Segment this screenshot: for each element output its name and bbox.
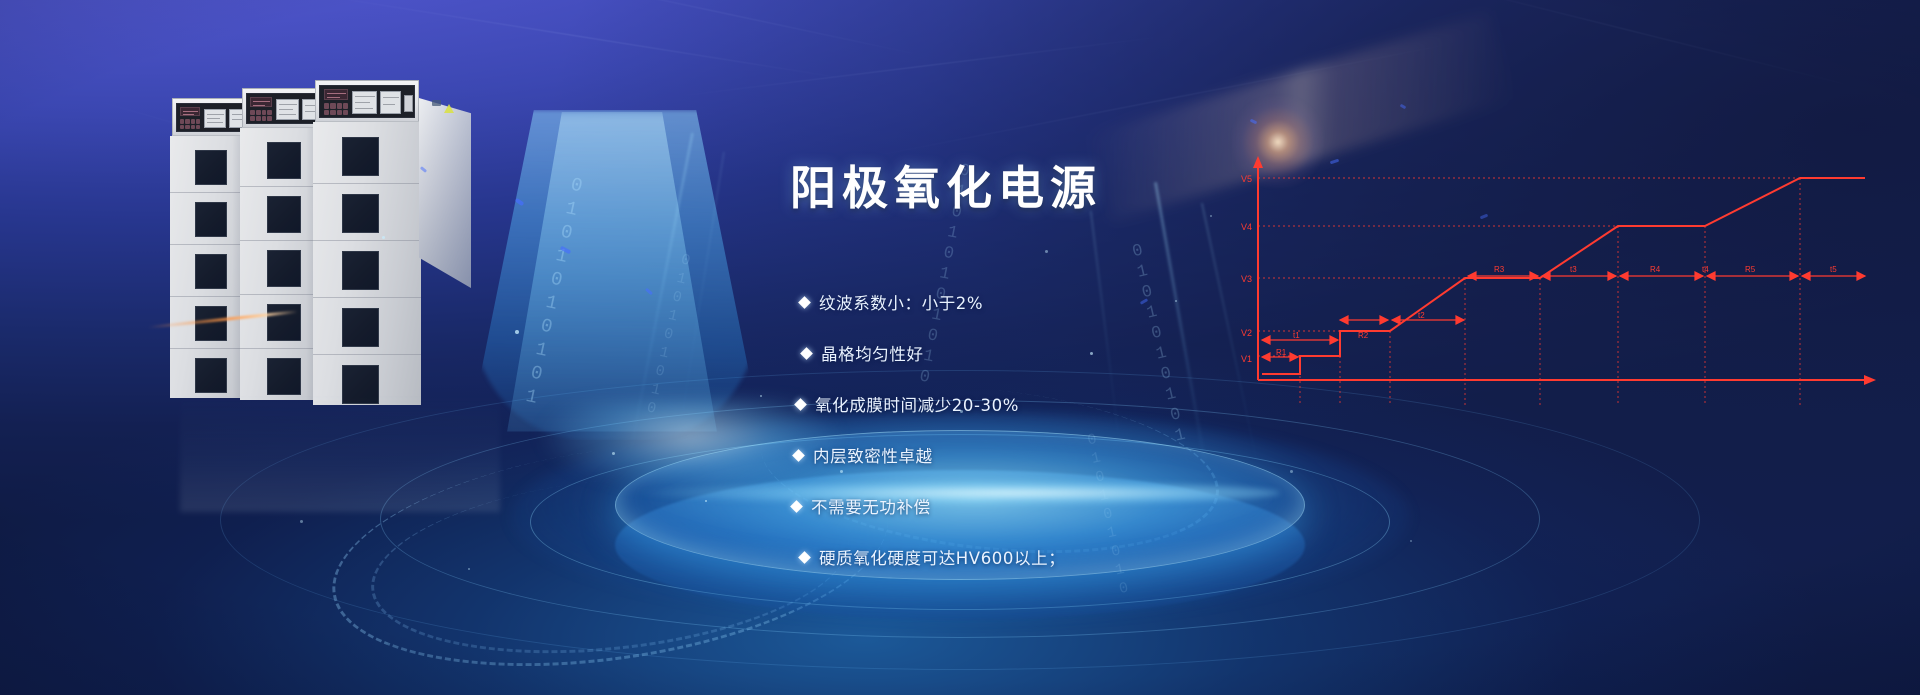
voltage-profile-chart: V1 V2 V3 V4 V5 R1 R2 R3 R4 R5 t1 t2 t3 t…: [1240, 150, 1880, 410]
cabinet-vent: [342, 194, 379, 233]
cabinet-vent: [342, 137, 379, 176]
cabinet-reflection: [180, 392, 500, 512]
particle: [515, 330, 519, 334]
list-item: 不需要无功补偿: [792, 494, 1280, 518]
page-title: 阳极氧化电源: [790, 152, 1102, 218]
particle: [300, 520, 303, 523]
lcd-display-icon: [180, 107, 200, 116]
keypad-icon: [180, 119, 200, 129]
list-item-label: 硬质氧化硬度可达HV600以上；: [819, 545, 1065, 569]
cabinet-vent: [267, 358, 301, 395]
breaker-switch-icon[interactable]: [404, 95, 413, 112]
particle: [1045, 250, 1048, 253]
particle: [1410, 540, 1412, 542]
warning-badge-icon: [444, 104, 454, 113]
cabinet-vent: [195, 358, 227, 393]
cabinet-vent: [267, 196, 301, 233]
label-plate: [204, 109, 226, 128]
chart-label-t2: t2: [1418, 311, 1425, 320]
chart-y-arrow-icon: [1253, 156, 1263, 168]
diamond-bullet-icon: [800, 347, 813, 360]
list-item: 纹波系数小：小于2%: [800, 290, 1280, 314]
nameplate-icon: [432, 100, 441, 106]
particle: [705, 500, 707, 502]
list-item-label: 晶格均匀性好: [821, 341, 924, 365]
chart-label-r5: R5: [1745, 265, 1756, 274]
particle: [760, 395, 762, 397]
control-panel: [319, 85, 415, 118]
diamond-bullet-icon: [794, 398, 807, 411]
light-streak-icon: [303, 0, 856, 81]
list-item: 内层致密性卓越: [794, 443, 1280, 467]
list-item-label: 纹波系数小：小于2%: [819, 290, 983, 314]
list-item-label: 氧化成膜时间减少20-30%: [815, 392, 1019, 416]
cabinet-body: [313, 122, 421, 405]
label-plate: [352, 91, 377, 114]
chart-ytick-v2: V2: [1241, 328, 1252, 338]
list-item-label: 不需要无功补偿: [811, 494, 931, 518]
chart-ytick-v3: V3: [1241, 274, 1252, 284]
lcd-display-icon: [250, 97, 272, 107]
keypad-icon: [250, 110, 272, 121]
light-streak-icon: [524, 0, 935, 59]
chart-label-t5: t5: [1830, 265, 1837, 274]
cabinet-vent: [195, 150, 227, 185]
list-item: 晶格均匀性好: [802, 341, 1280, 365]
chart-label-t3: t3: [1570, 265, 1577, 274]
particle: [612, 452, 615, 455]
chart-label-t1: t1: [1293, 331, 1300, 340]
light-streak-icon: [662, 34, 1178, 98]
chart-ytick-v4: V4: [1241, 222, 1252, 232]
label-plate: [380, 91, 401, 114]
cabinet-vent: [195, 254, 227, 289]
chart-svg: V1 V2 V3 V4 V5 R1 R2 R3 R4 R5 t1 t2 t3 t…: [1240, 150, 1880, 412]
particle: [468, 568, 470, 570]
chart-label-r1: R1: [1276, 348, 1287, 357]
feature-list: 纹波系数小：小于2% 晶格均匀性好 氧化成膜时间减少20-30% 内层致密性卓越…: [800, 290, 1280, 596]
banner-stage: 0101010101 01010101010 010101010 0101010…: [0, 0, 1920, 695]
list-item: 硬质氧化硬度可达HV600以上；: [800, 545, 1280, 569]
particle: [1290, 470, 1293, 473]
chart-label-t4: t4: [1702, 265, 1709, 274]
cabinet-side-shade: [419, 98, 471, 288]
cabinet-vent: [195, 202, 227, 237]
cabinet-vent: [267, 250, 301, 287]
label-plate: [276, 99, 299, 120]
chart-label-r3: R3: [1494, 265, 1505, 274]
list-item-label: 内层致密性卓越: [813, 443, 933, 467]
cabinet-vent: [195, 306, 227, 341]
cabinet-vent: [342, 308, 379, 347]
cabinet-vent: [342, 251, 379, 290]
chart-label-r4: R4: [1650, 265, 1661, 274]
lcd-display-icon: [324, 89, 348, 100]
diamond-bullet-icon: [790, 500, 803, 513]
particle: [382, 236, 385, 239]
chart-x-arrow-icon: [1864, 375, 1876, 385]
particle: [1175, 300, 1177, 302]
cabinet-vent: [267, 142, 301, 179]
particle: [840, 470, 843, 473]
diamond-bullet-icon: [798, 296, 811, 309]
keypad-icon: [324, 103, 348, 115]
particle: [1090, 352, 1093, 355]
chart-ytick-v5: V5: [1241, 174, 1252, 184]
chart-ytick-v1: V1: [1241, 354, 1252, 364]
diamond-bullet-icon: [798, 551, 811, 564]
diamond-bullet-icon: [792, 449, 805, 462]
list-item: 氧化成膜时间减少20-30%: [796, 392, 1280, 416]
chart-label-r2: R2: [1358, 331, 1369, 340]
particle: [1210, 215, 1212, 217]
cabinet-front: [313, 80, 421, 405]
particle: [960, 410, 963, 413]
